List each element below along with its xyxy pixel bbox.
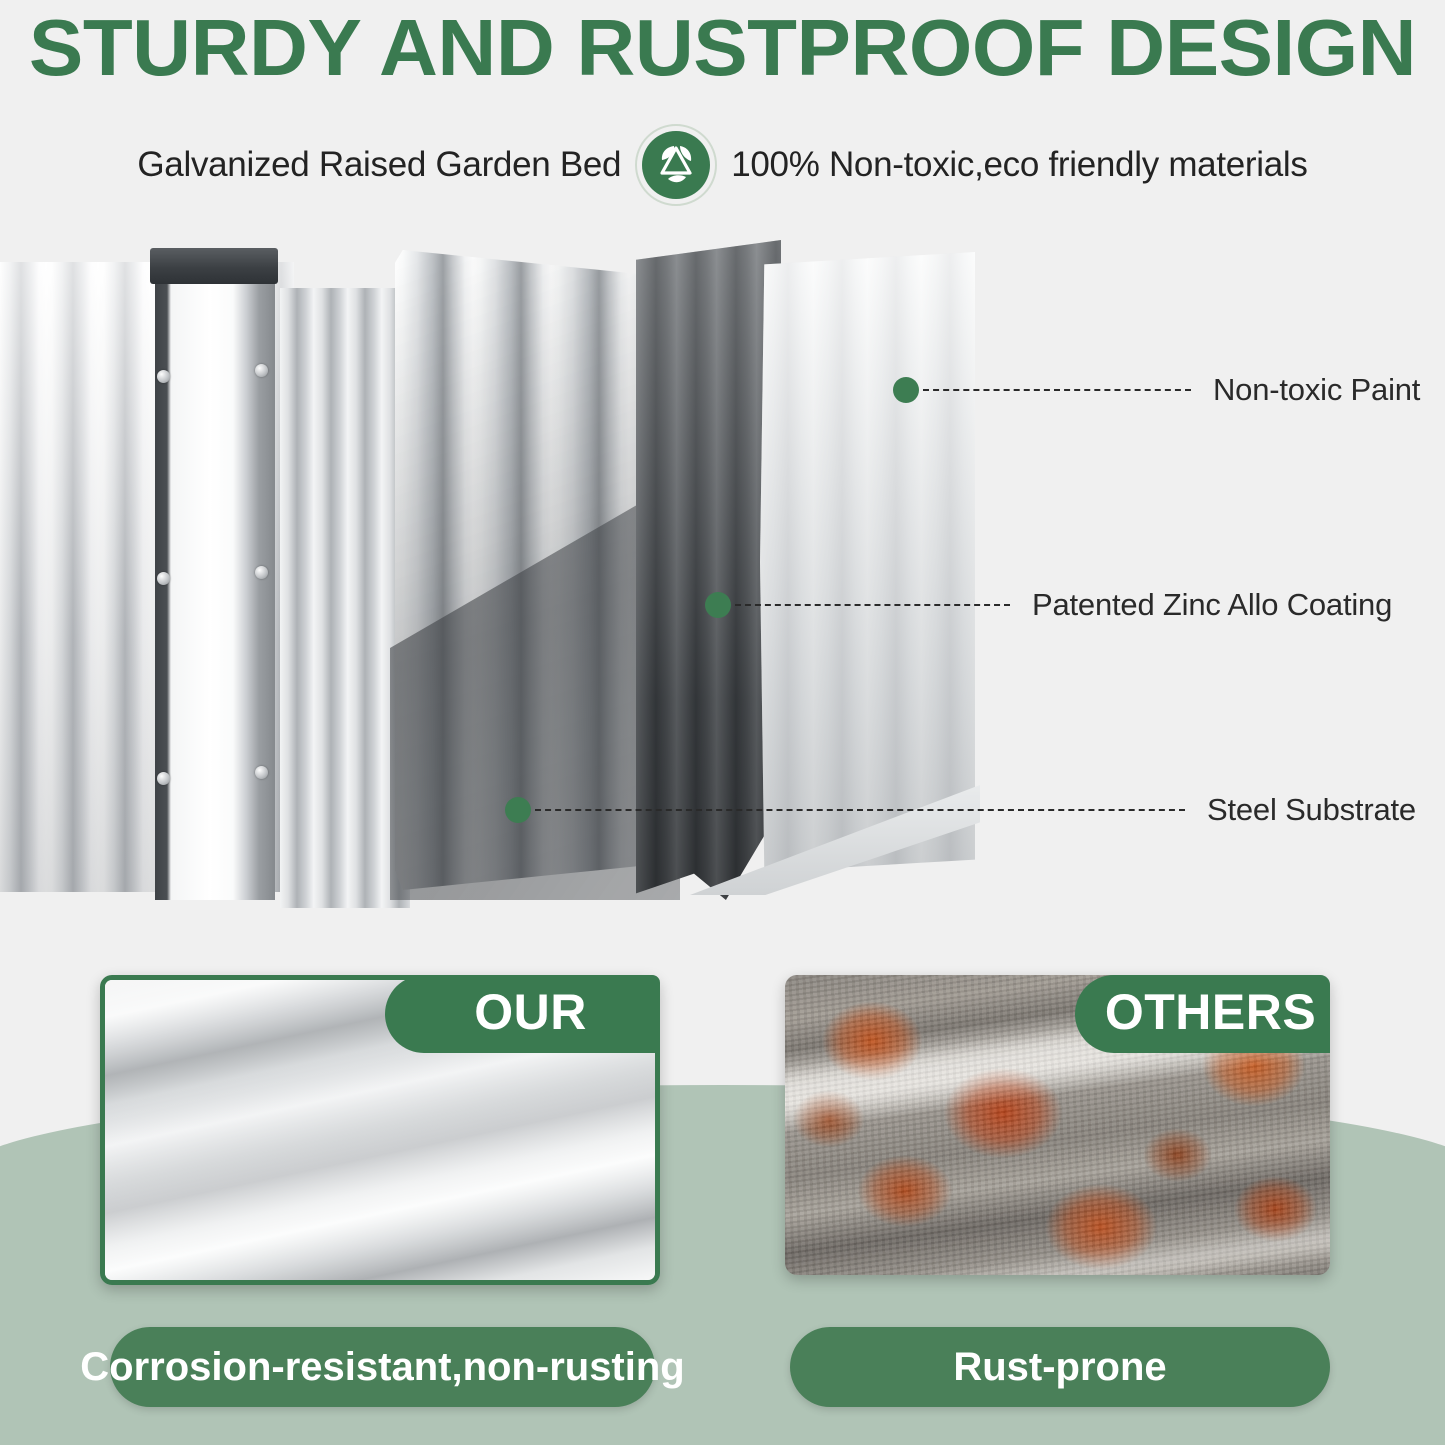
screw-icon: [157, 772, 170, 785]
callout-zinc-alloy-coating: Patented Zinc Allo Coating: [705, 587, 1392, 623]
our-tab-banner: OUR: [385, 975, 660, 1053]
screw-icon: [255, 364, 268, 377]
eco-recycle-leaves-icon: [635, 124, 717, 206]
callout-label: Non-toxic Paint: [1213, 372, 1420, 408]
comparison-card-our: OUR: [100, 975, 660, 1285]
page-title: STURDY AND RUSTPROOF DESIGN: [0, 0, 1445, 88]
screw-icon: [255, 766, 268, 779]
subtitle-left-text: Galvanized Raised Garden Bed: [137, 145, 621, 185]
header: STURDY AND RUSTPROOF DESIGN Galvanized R…: [0, 0, 1445, 206]
others-tab-banner: OTHERS: [1075, 975, 1330, 1053]
garden-bed-corner-post: [155, 252, 275, 900]
callout-label: Patented Zinc Allo Coating: [1032, 587, 1392, 623]
green-dot-marker: [505, 797, 531, 823]
hero-product-illustration: Non-toxic Paint Patented Zinc Allo Coati…: [0, 240, 1445, 920]
comparison-section: OUR OTHERS Corrosion-resistant,non-rusti…: [0, 975, 1445, 1445]
callout-steel-substrate: Steel Substrate: [505, 792, 1416, 828]
badge-leaf-triangle-glyph: [650, 139, 702, 191]
leader-line: [535, 809, 1185, 811]
callout-non-toxic-paint: Non-toxic Paint: [893, 372, 1420, 408]
comparison-card-others: OTHERS: [785, 975, 1330, 1275]
callout-label: Steel Substrate: [1207, 792, 1416, 828]
green-dot-marker: [705, 592, 731, 618]
screw-icon: [255, 566, 268, 579]
others-caption-pill: Rust-prone: [790, 1327, 1330, 1407]
screw-icon: [157, 370, 170, 383]
garden-bed-post-cap: [150, 248, 278, 284]
leader-line: [923, 389, 1191, 391]
subtitle-row: Galvanized Raised Garden Bed 100% Non-to…: [0, 124, 1445, 206]
screw-icon: [157, 572, 170, 585]
subtitle-right-text: 100% Non-toxic,eco friendly materials: [731, 145, 1307, 185]
our-caption-pill: Corrosion-resistant,non-rusting: [110, 1327, 655, 1407]
leader-line: [735, 604, 1010, 606]
green-dot-marker: [893, 377, 919, 403]
layer-zinc-shading: [760, 252, 975, 872]
